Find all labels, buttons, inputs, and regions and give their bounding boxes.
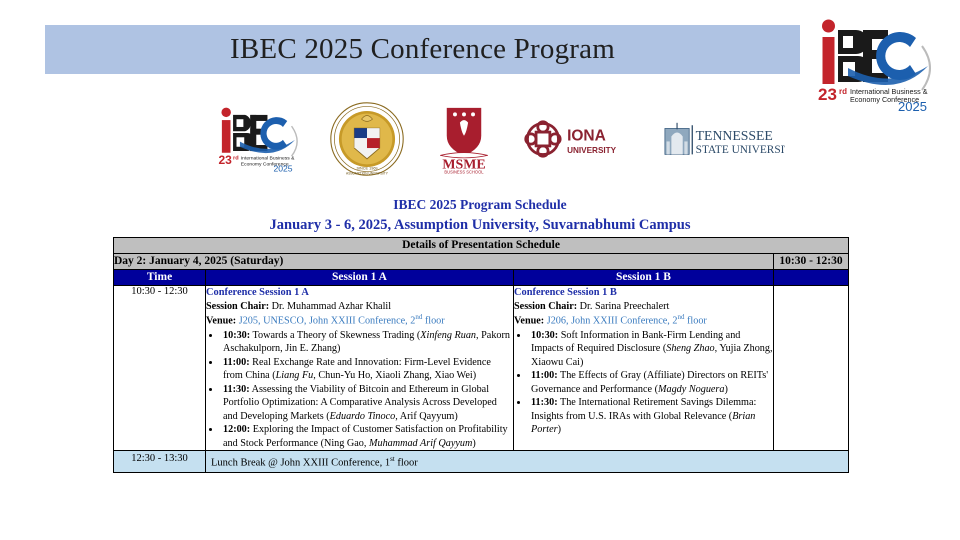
list-item: 11:30: Assessing the Viability of Bitcoi… [221,383,513,423]
msme-crest-icon: MSME BUSINESS SCHOOL [432,104,496,174]
paper-title: The International Retirement Savings Dil… [531,397,756,421]
svg-text:STATE UNIVERSITY: STATE UNIVERSITY [696,144,785,156]
list-item: 10:30: Soft Information in Bank-Firm Len… [529,329,773,369]
svg-text:rd: rd [839,87,847,96]
list-item: 11:30: The International Retirement Savi… [529,396,773,436]
tennessee-state-university-logo: TENNESSEE STATE UNIVERSITY [663,122,785,156]
session-1a-cell: Conference Session 1 A Session Chair: Dr… [206,286,514,451]
svg-text:23: 23 [818,85,837,104]
svg-text:International Business &: International Business & [241,156,295,162]
paper-time: 11:30: [223,384,250,395]
lunch-text-pre: Lunch Break @ John XXIII Conference, 1 [211,458,390,469]
table-row: 10:30 - 12:30 Conference Session 1 A Ses… [114,286,849,451]
session-1b-chair-name: Dr. Sarina Preechalert [577,301,669,312]
ibec-logo-graphic: 23 rd International Business & Economy C… [812,16,940,112]
msme-business-school-logo: MSME BUSINESS SCHOOL [432,104,496,174]
session-1a-venue: Venue: J205, UNESCO, John XXIII Conferen… [206,313,513,328]
session-1a-heading: Conference Session 1 A [206,286,513,300]
paper-time: 12:00: [223,424,250,435]
iona-university-logo: IONA UNIVERSITY [524,120,636,158]
svg-text:BUSINESS SCHOOL: BUSINESS SCHOOL [444,169,484,174]
paper-time: 11:00: [223,357,250,368]
table-column-header-row: Time Session 1 A Session 1 B [114,270,849,286]
table-day-row: Day 2: January 4, 2025 (Saturday) 10:30 … [114,254,849,270]
session-1b-paper-list: 10:30: Soft Information in Bank-Firm Len… [514,329,773,437]
svg-text:ASSUMPTION UNIVERSITY: ASSUMPTION UNIVERSITY [346,171,389,175]
session-extra-cell [774,286,849,451]
lunch-text-post: floor [395,458,418,469]
paper-coauthors: , Chun-Yu Ho, Xiaoli Zhang, Xiao Wei) [313,370,476,381]
column-header-session-1a: Session 1 A [206,270,514,286]
session-1b-chair: Session Chair: Dr. Sarina Preechalert [514,300,773,313]
assumption-university-seal-icon: SINCE 1969 ASSUMPTION UNIVERSITY [329,101,405,177]
paper-presenter: Sheng Zhao [666,343,714,354]
table-title-row: Details of Presentation Schedule [114,238,849,254]
svg-text:23: 23 [218,153,232,167]
session-1a-chair-name: Dr. Muhammad Azhar Khalil [269,301,391,312]
list-item: 10:30: Towards a Theory of Skewness Trad… [221,329,513,356]
list-item: 11:00: The Effects of Gray (Affiliate) D… [529,369,773,396]
session-1a-venue-text: J205, UNESCO, John XXIII Conference, 2 [236,316,415,327]
session-1b-heading: Conference Session 1 B [514,286,773,300]
program-schedule-heading: IBEC 2025 Program Schedule [0,197,960,213]
ibec-logo: 23 rd International Business & Economy C… [812,16,940,112]
column-header-session-1b: Session 1 B [514,270,774,286]
session-1b-chair-label: Session Chair: [514,301,577,312]
day-label: Day 2: January 4, 2025 (Saturday) [114,254,774,270]
day-time-range: 10:30 - 12:30 [774,254,849,270]
svg-text:rd: rd [233,156,239,162]
ibec-logo-graphic: 23 rd International Business & Economy C… [215,105,301,173]
page-title: IBEC 2025 Conference Program [230,33,615,66]
paper-title: The Effects of Gray (Affiliate) Director… [531,370,768,394]
svg-text:TENNESSEE: TENNESSEE [696,128,773,143]
paper-time: 11:30: [531,397,558,408]
ibec-logo: 23 rd International Business & Economy C… [215,105,301,173]
program-dates-venue: January 3 - 6, 2025, Assumption Universi… [0,217,960,234]
paper-coauthors: ) [472,438,475,449]
iona-university-mark-icon: IONA UNIVERSITY [524,120,636,158]
paper-time: 10:30: [223,330,250,341]
paper-time: 10:30: [531,330,558,341]
paper-presenter: Muhammad Arif Qayyum [369,438,472,449]
lunch-time: 12:30 - 13:30 [114,451,206,473]
list-item: 12:00: Exploring the Impact of Customer … [221,423,513,450]
paper-coauthors: , Arif Qayyum) [395,411,458,422]
header-banner: IBEC 2025 Conference Program [45,25,800,74]
paper-presenter: Xinfeng Ruan [420,330,476,341]
table-title: Details of Presentation Schedule [114,238,849,254]
svg-text:SINCE 1969: SINCE 1969 [356,167,377,171]
session-1b-venue-label: Venue: [514,316,544,327]
session-1a-paper-list: 10:30: Towards a Theory of Skewness Trad… [206,329,513,450]
svg-text:IONA: IONA [567,128,606,145]
session-1b-cell: Conference Session 1 B Session Chair: Dr… [514,286,774,451]
session-1a-chair: Session Chair: Dr. Muhammad Azhar Khalil [206,300,513,313]
session-1a-venue-tail: floor [422,316,444,327]
paper-presenter: Magdy Noguera [658,384,725,395]
paper-time: 11:00: [531,370,558,381]
paper-title: Towards a Theory of Skewness Trading ( [250,330,420,341]
session-1a-chair-label: Session Chair: [206,301,269,312]
tsu-tower-icon: TENNESSEE STATE UNIVERSITY [663,122,785,156]
session-1b-venue-text: J206, John XXIII Conference, 2 [544,316,677,327]
svg-text:2025: 2025 [898,99,927,112]
session-1b-venue-tail: floor [684,316,706,327]
column-header-time: Time [114,270,206,286]
paper-presenter: Liang Fu [276,370,314,381]
lunch-text: Lunch Break @ John XXIII Conference, 1st… [206,451,849,473]
svg-text:UNIVERSITY: UNIVERSITY [567,146,617,155]
column-header-blank [774,270,849,286]
assumption-university-of-thailand-logo: SINCE 1969 ASSUMPTION UNIVERSITY [329,101,405,177]
session-1b-venue: Venue: J206, John XXIII Conference, 2nd … [514,313,773,328]
sponsor-logo-strip: 23 rd International Business & Economy C… [215,98,785,180]
paper-coauthors: ) [725,384,728,395]
paper-presenter: Eduardo Tinoco [330,411,396,422]
paper-coauthors: ) [558,424,561,435]
schedule-table: Details of Presentation Schedule Day 2: … [113,237,849,473]
row-time: 10:30 - 12:30 [114,286,206,451]
svg-text:2025: 2025 [273,164,292,173]
session-1a-venue-label: Venue: [206,316,236,327]
lunch-break-row: 12:30 - 13:30 Lunch Break @ John XXIII C… [114,451,849,473]
list-item: 11:00: Real Exchange Rate and Innovation… [221,356,513,383]
